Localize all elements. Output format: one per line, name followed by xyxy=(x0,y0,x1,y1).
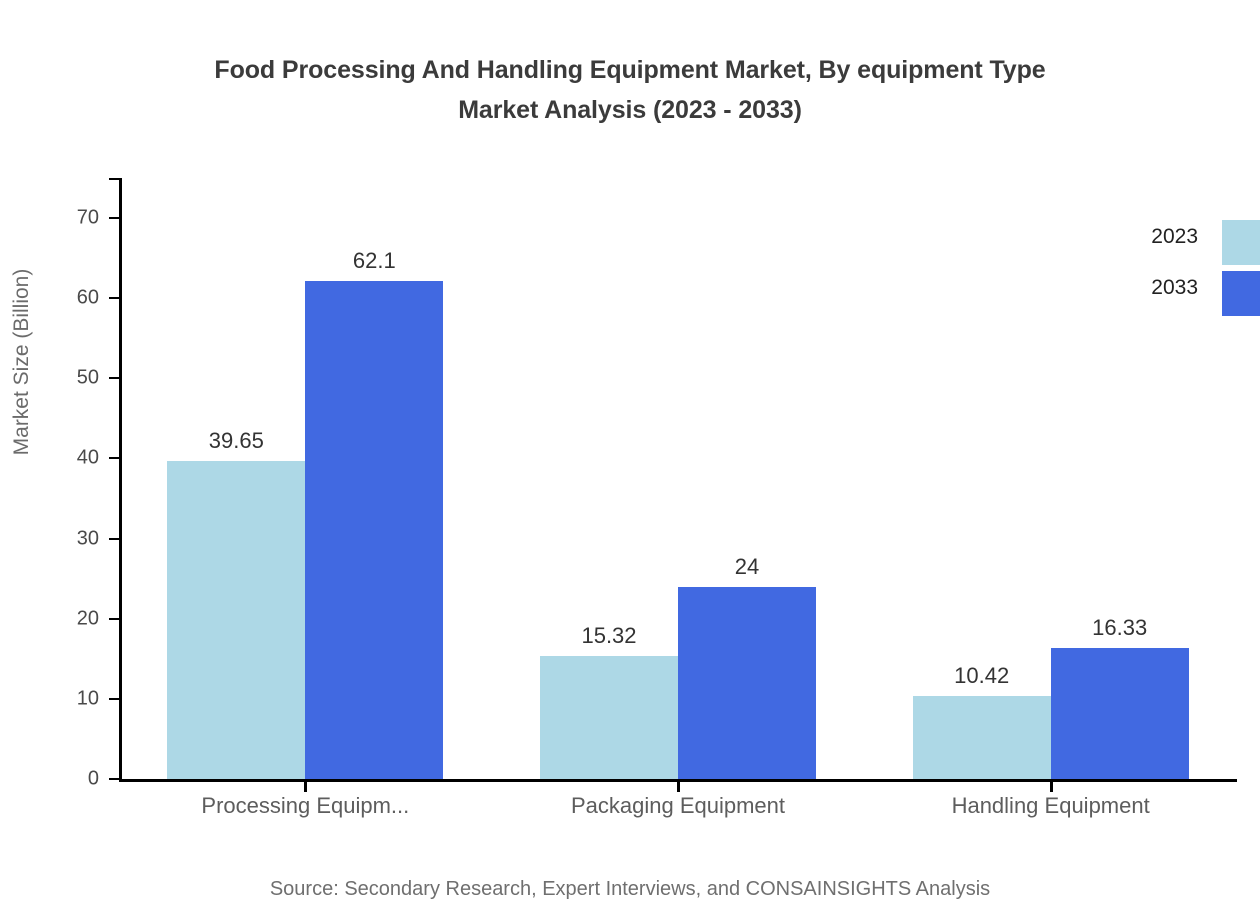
x-tick-mark xyxy=(304,781,307,792)
legend-label-2023: 2023 xyxy=(1136,225,1198,249)
bar-2033-2[interactable] xyxy=(678,587,816,779)
x-tick-mark xyxy=(1050,781,1053,792)
bar-2033-1[interactable] xyxy=(305,281,443,779)
bar-value-label: 62.1 xyxy=(274,248,474,274)
bar-2023-2[interactable] xyxy=(540,656,678,779)
x-tick-mark xyxy=(677,781,680,792)
bar-2023-3[interactable] xyxy=(913,696,1051,779)
bar-value-label: 24 xyxy=(647,554,847,580)
bar-chart-figure: Food Processing And Handling Equipment M… xyxy=(0,0,1260,920)
x-tick-label: Processing Equipm... xyxy=(140,793,470,819)
legend-item-2023[interactable]: 2023 xyxy=(1136,220,1260,271)
bar-value-label: 16.33 xyxy=(1020,615,1220,641)
legend-swatch-2033 xyxy=(1222,271,1260,316)
source-note: Source: Secondary Research, Expert Inter… xyxy=(0,878,1260,901)
x-tick-label: Handling Equipment xyxy=(886,793,1216,819)
legend-item-2033[interactable]: 2033 xyxy=(1136,271,1260,322)
x-tick-label: Packaging Equipment xyxy=(513,793,843,819)
chart-title: Food Processing And Handling Equipment M… xyxy=(0,50,1260,130)
chart-legend: 2023 2033 xyxy=(1136,220,1260,322)
bars-layer: 39.6515.3210.4262.12416.33 xyxy=(0,178,1260,779)
legend-swatch-2023 xyxy=(1222,220,1260,265)
bar-2023-1[interactable] xyxy=(167,461,305,779)
bar-2033-3[interactable] xyxy=(1051,648,1189,779)
legend-label-2033: 2033 xyxy=(1136,276,1198,300)
